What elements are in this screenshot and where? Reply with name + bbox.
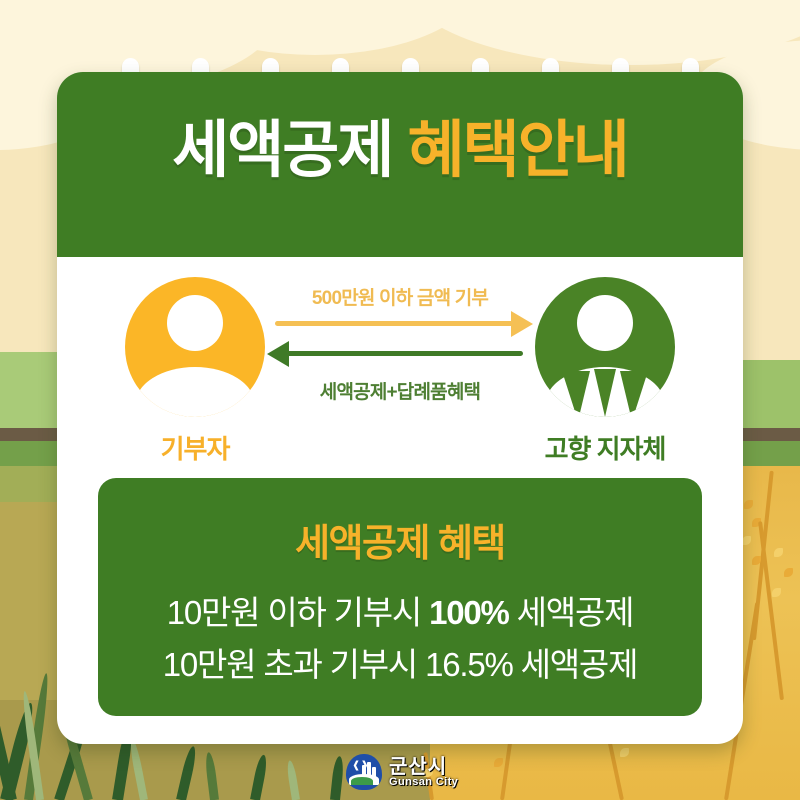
avatar-lapel-left-icon xyxy=(562,371,590,417)
page-title-primary: 세액공제 xyxy=(172,116,392,185)
page-title: 세액공제 혜택안내 xyxy=(57,120,743,182)
arrow-left-line xyxy=(275,351,523,356)
notepad-card: 세액공제 혜택안내 기부자 고향 지자체 500만원 이하 금액 기부 xyxy=(57,72,743,744)
logo-text: 군산시 Gunsan City xyxy=(389,757,458,788)
card-header: 세액공제 혜택안내 xyxy=(57,72,743,257)
benefit-line-1-prefix: 10만원 이하 기부시 xyxy=(167,594,429,631)
government-avatar xyxy=(535,277,675,417)
flow-arrows: 500만원 이하 금액 기부 세액공제+답례품혜택 xyxy=(269,277,531,417)
donation-flow-diagram: 기부자 고향 지자체 500만원 이하 금액 기부 세액공제+답례품혜택 xyxy=(57,257,743,472)
arrow-right-head-icon xyxy=(511,311,533,337)
arrow-bottom-label: 세액공제+답례품혜택 xyxy=(269,377,531,404)
avatar-body-icon xyxy=(135,367,255,417)
avatar-head-icon xyxy=(577,295,633,351)
logo-english-name: Gunsan City xyxy=(389,777,458,788)
avatar-head-icon xyxy=(167,295,223,351)
benefit-box: 세액공제 혜택 10만원 이하 기부시 100% 세액공제 10만원 초과 기부… xyxy=(98,478,702,716)
benefit-line-1: 10만원 이하 기부시 100% 세액공제 xyxy=(98,586,702,634)
government-label: 고향 지자체 xyxy=(515,429,695,466)
donor-avatar xyxy=(125,277,265,417)
arrow-right-line xyxy=(275,321,523,326)
avatar-lapel-right-icon xyxy=(620,371,648,417)
gunsan-city-emblem-icon: ❰❱ xyxy=(346,754,382,790)
donor-label: 기부자 xyxy=(105,429,285,466)
benefit-line-1-highlight: 100% xyxy=(429,594,509,631)
infographic-canvas: ❰❱ ❰❱ xyxy=(0,0,800,800)
avatar-necktie-icon xyxy=(594,369,616,417)
benefit-line-2: 10만원 초과 기부시 16.5% 세액공제 xyxy=(98,638,702,686)
logo-korean-name: 군산시 xyxy=(389,757,458,777)
hill-icon xyxy=(351,777,373,785)
arrow-left-head-icon xyxy=(267,341,289,367)
arrow-top-label: 500만원 이하 금액 기부 xyxy=(269,283,531,310)
benefit-heading: 세액공제 혜택 xyxy=(98,512,702,567)
benefit-line-1-suffix: 세액공제 xyxy=(509,594,634,631)
gunsan-city-logo: ❰❱ 군산시 Gunsan City xyxy=(346,752,466,792)
page-title-accent: 혜택안내 xyxy=(408,116,628,185)
